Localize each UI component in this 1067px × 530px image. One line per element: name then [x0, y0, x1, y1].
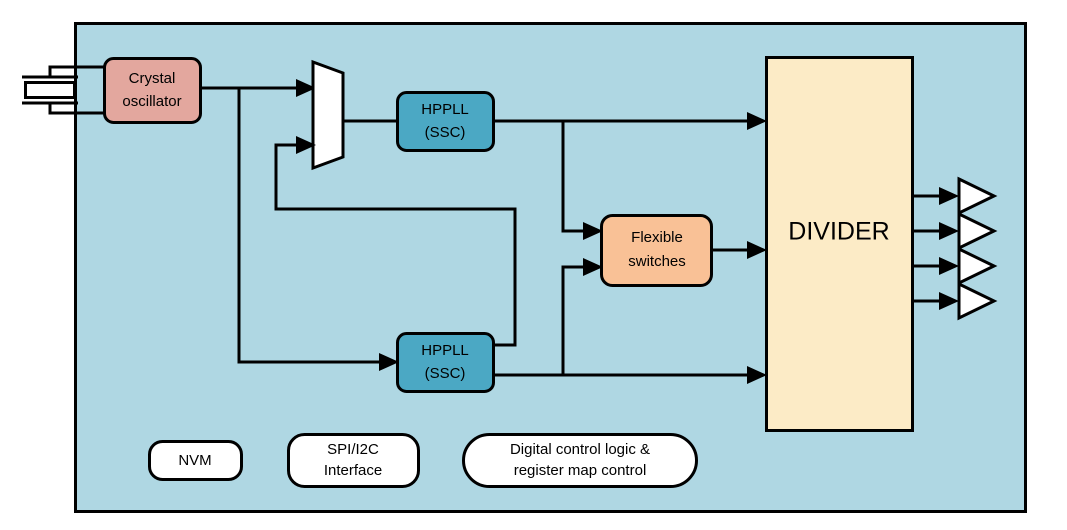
flexible-switches-box[interactable] — [602, 216, 712, 286]
crystal-oscillator-block[interactable]: Crystal oscillator — [105, 59, 201, 123]
hppll-top-box[interactable] — [398, 93, 494, 151]
divider-box[interactable] — [767, 58, 913, 431]
input-mux[interactable] — [313, 62, 343, 168]
block-diagram-root: Crystal oscillator HPPLL (SSC — [0, 0, 1067, 530]
crystal-oscillator-box[interactable] — [105, 59, 201, 123]
flexible-switches-block[interactable]: Flexible switches — [602, 216, 712, 286]
hppll-top-block[interactable]: HPPLL (SSC) — [398, 93, 494, 151]
block-diagram-canvas: Crystal oscillator HPPLL (SSC — [0, 0, 1067, 530]
input-mux-shape[interactable] — [313, 62, 343, 168]
digital-control-logic-block[interactable]: Digital control logic & register map con… — [464, 435, 697, 487]
digital-control-logic-box[interactable] — [464, 435, 697, 487]
hppll-bottom-box[interactable] — [398, 334, 494, 392]
spi-i2c-interface-block[interactable]: SPI/I2C Interface — [289, 435, 419, 487]
hppll-bottom-block[interactable]: HPPLL (SSC) — [398, 334, 494, 392]
spi-i2c-interface-box[interactable] — [289, 435, 419, 487]
nvm-box[interactable] — [150, 442, 242, 480]
divider-block[interactable]: DIVIDER — [767, 58, 913, 431]
nvm-block[interactable]: NVM — [150, 442, 242, 480]
